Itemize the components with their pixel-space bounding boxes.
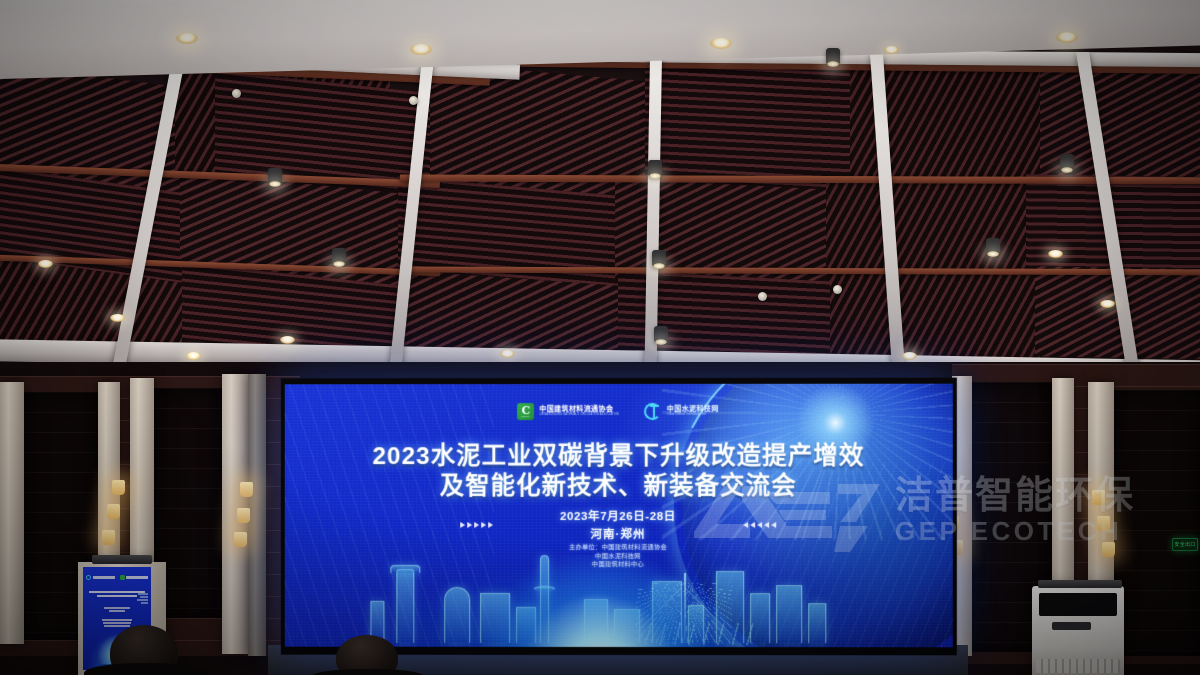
conference-hall-scene: 安全出口	[0, 0, 1200, 675]
ceiling-track-light	[648, 160, 662, 177]
arrow-decor-left	[460, 522, 493, 528]
screen-subinfo: 2023年7月26日-28日 河南·郑州	[285, 508, 953, 542]
ac-control-panel[interactable]	[1052, 622, 1091, 630]
exit-sign: 安全出口	[1172, 538, 1198, 551]
wall-pillar	[0, 382, 24, 644]
ceiling-spotlight	[500, 350, 515, 358]
ceiling-track-light	[826, 48, 840, 65]
arrow-decor-right	[743, 522, 776, 528]
led-screen-content: C CBMCA 中国建筑材料流通协会 CHINA BUILDING MATERI…	[285, 384, 953, 648]
wall-sconce-light	[1097, 516, 1110, 531]
headline-line-1: 2023水泥工业双碳背景下升级改造提产增效	[285, 442, 953, 472]
smoke-detector-icon	[833, 285, 842, 294]
wall-sconce-light	[1092, 490, 1105, 505]
headline-line-2: 及智能化新技术、新装备交流会	[285, 472, 953, 502]
ac-grill	[1039, 593, 1116, 616]
ceiling-track-light	[654, 326, 668, 343]
ceiling-spotlight	[1100, 300, 1115, 308]
smoke-detector-icon	[758, 292, 767, 301]
wall-sconce-light	[240, 482, 253, 497]
ceiling-spotlight	[38, 260, 53, 268]
organizer-line: 中国建筑材料中心	[592, 561, 644, 570]
wall-sconce-light	[107, 504, 120, 519]
podium-poster-logos	[83, 574, 151, 580]
ceiling-spotlight	[884, 46, 899, 54]
logo-en-name: China Cement Technology Net	[667, 414, 719, 417]
ceiling-spotlight	[410, 44, 432, 55]
audience-shoulder	[84, 663, 208, 675]
event-location: 河南·郑州	[285, 526, 953, 542]
screen-headline: 2023水泥工业双碳背景下升级改造提产增效 及智能化新技术、新装备交流会	[285, 442, 953, 502]
ceiling-spotlight	[710, 38, 732, 49]
air-conditioner-unit	[1032, 586, 1124, 675]
ac-vent-base	[1036, 659, 1121, 673]
logo-cbmca: C CBMCA 中国建筑材料流通协会 CHINA BUILDING MATERI…	[517, 403, 618, 420]
podium-poster-date	[83, 607, 151, 612]
ceiling-track-light	[652, 250, 666, 267]
wall-sconce-light	[234, 532, 247, 547]
logo-cement-tech-net: 中国水泥科技网 China Cement Technology Net	[643, 402, 719, 421]
ceiling-track-light	[332, 248, 346, 265]
ac-top-cover	[1038, 580, 1122, 588]
organizer-line: 中国水泥科技网	[595, 552, 641, 561]
ceiling-spotlight	[1056, 32, 1078, 43]
wall-recess	[1112, 390, 1200, 656]
organizer-line: 主办单位：中国建筑材料流通协会	[569, 544, 667, 553]
logo-en-name: CHINA BUILDING MATERIALS CIRCULATION ASS…	[539, 414, 618, 417]
screen-organizers: 主办单位：中国建筑材料流通协会 中国水泥科技网 中国建筑材料中心	[285, 544, 953, 570]
ceiling-spotlight	[176, 33, 198, 44]
smoke-detector-icon	[232, 89, 241, 98]
wall-pillar	[248, 374, 266, 656]
ceiling-track-light	[1060, 154, 1074, 171]
ceiling-panel	[830, 268, 1040, 361]
ceiling-track-light	[268, 168, 282, 185]
wall-sconce-light	[102, 530, 115, 545]
wall-sconce-light	[1102, 542, 1115, 557]
ceiling	[0, 0, 1200, 372]
podium-poster-sidebar	[136, 593, 148, 604]
ceiling-spotlight	[280, 336, 295, 344]
screen-logo-row: C CBMCA 中国建筑材料流通协会 CHINA BUILDING MATERI…	[285, 402, 953, 422]
cyan-ct-logo-icon	[643, 402, 662, 421]
ceiling-track-light	[986, 238, 1000, 255]
event-date: 2023年7月26日-28日	[285, 508, 953, 524]
wall-sconce-light	[112, 480, 125, 495]
exit-sign-label: 安全出口	[1174, 541, 1195, 548]
ceiling-spotlight	[1048, 250, 1063, 258]
podium-top-surface	[92, 555, 152, 564]
ceiling-panel	[645, 62, 855, 193]
led-screen[interactable]: C CBMCA 中国建筑材料流通协会 CHINA BUILDING MATERI…	[281, 378, 957, 656]
green-c-logo-icon: C CBMCA	[517, 403, 534, 420]
logo-mark-sub: CBMCA	[521, 415, 531, 418]
wall-sconce-light	[237, 508, 250, 523]
smoke-detector-icon	[409, 96, 418, 105]
logo-mark-letter: C	[521, 406, 530, 415]
ceiling-spotlight	[110, 314, 125, 322]
ceiling-spotlight	[902, 352, 917, 360]
ceiling-spotlight	[186, 352, 201, 360]
